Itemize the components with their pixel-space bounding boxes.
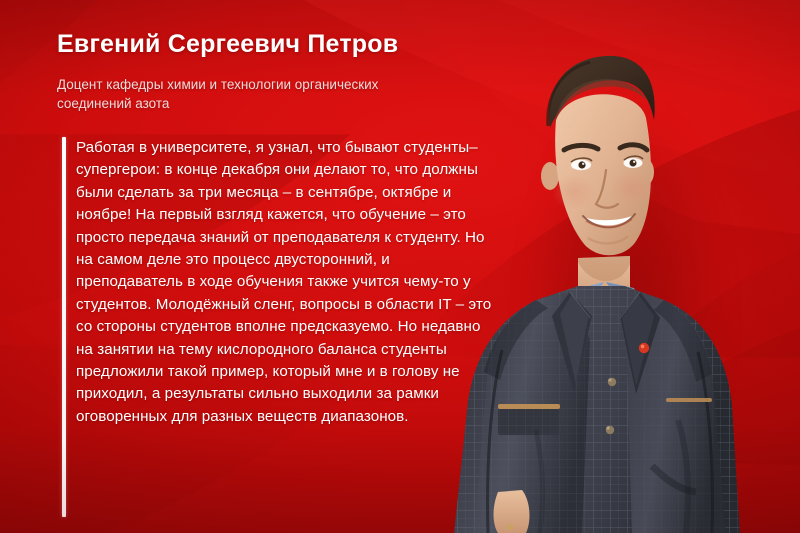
quote-text: Работая в университете, я узнал, что быв… — [66, 137, 492, 517]
job-title: Доцент кафедры химии и технологии органи… — [57, 75, 442, 114]
header-block: Евгений Сергеевич Петров Доцент кафедры … — [57, 30, 487, 114]
suit-jacket — [440, 270, 800, 533]
lapel-pin — [639, 343, 649, 353]
promo-slide: Евгений Сергеевич Петров Доцент кафедры … — [0, 0, 800, 533]
portrait-photo — [440, 0, 800, 533]
jacket-pocket-right — [666, 398, 712, 402]
quote-block: Работая в университете, я узнал, что быв… — [62, 137, 492, 517]
hand-right — [494, 490, 530, 533]
head — [541, 56, 655, 255]
portrait-figure — [440, 0, 800, 533]
jacket-pocket-left — [498, 404, 560, 435]
page-title: Евгений Сергеевич Петров — [57, 30, 487, 59]
